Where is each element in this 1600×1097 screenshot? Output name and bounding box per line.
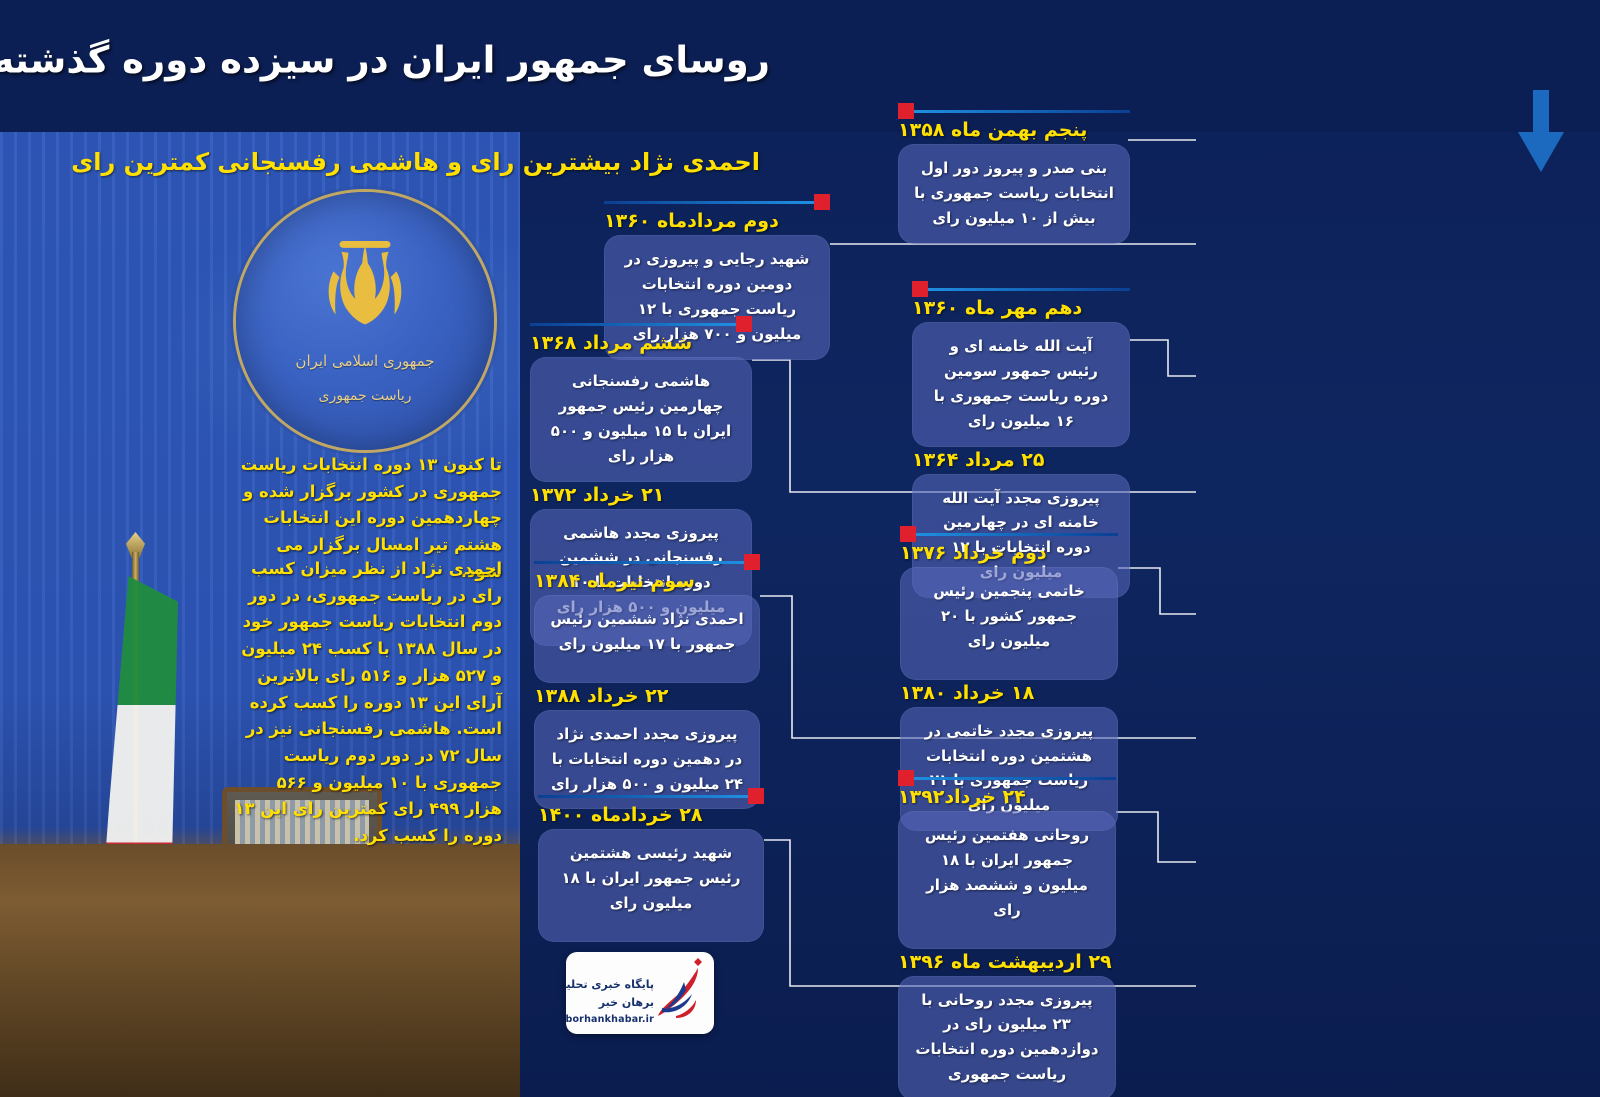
logo-line-1: پایگاه خبری تحلیلی bbox=[566, 978, 654, 991]
timeline-date: ششم مرداد ۱۳۶۸ bbox=[530, 332, 752, 354]
timeline-date: دوم مردادماه ۱۳۶۰ bbox=[604, 210, 830, 232]
timeline-tick bbox=[530, 318, 752, 330]
timeline-card[interactable]: خاتمی پنجمین رئیس جمهور کشور با ۲۰ میلیو… bbox=[900, 567, 1118, 680]
timeline-group-banisadr: پنجم بهمن ماه ۱۳۵۸ بنی صدر و پیروز دور ا… bbox=[898, 105, 1130, 244]
timeline-tick bbox=[604, 196, 830, 208]
timeline-card[interactable]: احمدی نژاد ششمین رئیس جمهور با ۱۷ میلیون… bbox=[534, 595, 760, 683]
timeline-tick bbox=[898, 105, 1130, 117]
timeline-date: ۲۴ خرداد۱۳۹۲ bbox=[898, 786, 1116, 808]
timeline-date: ۲۹ اردیبهشت ماه ۱۳۹۶ bbox=[898, 951, 1116, 973]
timeline-date: دوم خرداد ۱۳۷۶ bbox=[900, 542, 1118, 564]
arrow-down-icon bbox=[1518, 90, 1564, 172]
timeline-tick bbox=[912, 283, 1130, 295]
timeline-date: ۱۸ خرداد ۱۳۸۰ bbox=[900, 682, 1118, 704]
logo-line-2: برهان خبر bbox=[599, 996, 654, 1009]
timeline-date: ۲۵ مرداد ۱۳۶۴ bbox=[912, 449, 1130, 471]
timeline-group-rouhani: ۲۴ خرداد۱۳۹۲ روحانی هفتمین رئیس جمهور ای… bbox=[898, 772, 1116, 1097]
timeline-tick bbox=[534, 556, 760, 568]
emblem-line-2: ریاست جمهوری bbox=[318, 388, 411, 404]
timeline-tick bbox=[538, 790, 764, 802]
timeline-tick bbox=[900, 528, 1118, 540]
timeline-card[interactable]: شهید رئیسی هشتمین رئیس جمهور ایران با ۱۸… bbox=[538, 829, 764, 942]
borhan-khabar-logo-icon bbox=[654, 956, 708, 1026]
timeline-card[interactable]: بنی صدر و پیروز دور اول انتخابات ریاست ج… bbox=[898, 144, 1130, 244]
timeline-card[interactable]: روحانی هفتمین رئیس جمهور ایران با ۱۸ میل… bbox=[898, 811, 1116, 949]
tulip-emblem-icon bbox=[306, 238, 424, 344]
timeline-group-ahmadinejad: سوم تیرماه ۱۳۸۴ احمدی نژاد ششمین رئیس جم… bbox=[534, 556, 760, 809]
timeline-date: پنجم بهمن ماه ۱۳۵۸ bbox=[898, 119, 1130, 141]
timeline-date: ۲۱ خرداد ۱۳۷۲ bbox=[530, 484, 752, 506]
site-logo[interactable]: پایگاه خبری تحلیلی برهان خبر www.borhank… bbox=[566, 952, 714, 1034]
timeline-card[interactable]: هاشمی رفسنجانی چهارمین رئیس جمهور ایران … bbox=[530, 357, 752, 482]
timeline-tick bbox=[898, 772, 1116, 784]
timeline-card[interactable]: آیت الله خامنه ای و رئیس جمهور سومین دور… bbox=[912, 322, 1130, 447]
timeline-group-raisi: ۲۸ خردادماه ۱۴۰۰ شهید رئیسی هشتمین رئیس … bbox=[538, 790, 764, 942]
page-subtitle: احمدی نژاد بیشترین رای و هاشمی رفسنجانی … bbox=[71, 148, 760, 176]
logo-line-3: www.borhankhabar.ir bbox=[566, 1014, 654, 1025]
timeline-date: ۲۸ خردادماه ۱۴۰۰ bbox=[538, 804, 764, 826]
iran-presidency-emblem: جمهوری اسلامی ایران ریاست جمهوری bbox=[236, 192, 494, 450]
timeline-card[interactable]: پیروزی مجدد روحانی با ۲۳ میلیون رای در د… bbox=[898, 976, 1116, 1097]
page-title: روسای جمهور ایران در سیزده دوره گذشته؛ bbox=[0, 39, 770, 82]
timeline-date: سوم تیرماه ۱۳۸۴ bbox=[534, 570, 760, 592]
office-desk bbox=[0, 844, 520, 1097]
emblem-line-1: جمهوری اسلامی ایران bbox=[295, 352, 434, 370]
infographic-root: جمهوری اسلامی ایران ریاست جمهوری روسای ج… bbox=[0, 0, 1600, 1097]
intro-paragraph-2: احمدی نژاد از نظر میزان کسب رای در ریاست… bbox=[234, 556, 502, 850]
timeline-date: ۲۲ خرداد ۱۳۸۸ bbox=[534, 685, 760, 707]
timeline-date: دهم مهر ماه ۱۳۶۰ bbox=[912, 297, 1130, 319]
